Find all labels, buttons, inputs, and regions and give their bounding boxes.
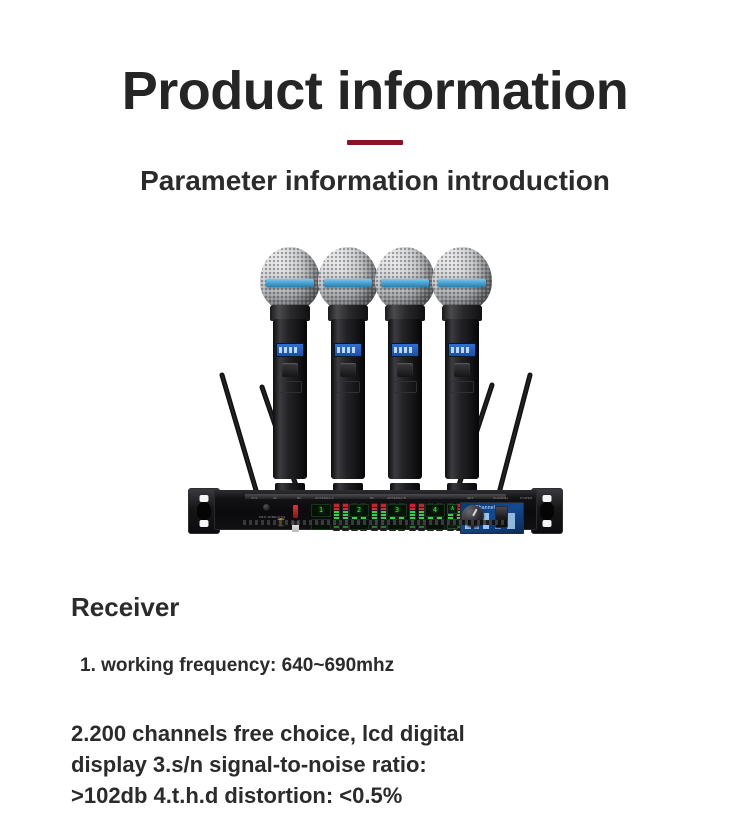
mic-accent-band — [381, 279, 429, 287]
mic-label-plate — [278, 381, 302, 393]
spec-paragraph-line-1: 2.200 channels free choice, lcd digital — [71, 718, 691, 749]
channel-number: 4 — [425, 504, 445, 517]
channel-number: 2 — [349, 504, 369, 517]
microphone-2 — [326, 247, 370, 497]
panel-label-channel: CHANNEL — [493, 496, 509, 500]
product-information-page: Product information Parameter informatio… — [0, 0, 750, 833]
mic-power-switch[interactable] — [340, 363, 356, 377]
spec-paragraph: 2.200 channels free choice, lcd digital … — [71, 718, 691, 812]
panel-label-antenna-b: ANTENNA B — [387, 496, 406, 500]
panel-label-vol: VOL — [251, 496, 258, 500]
spec-paragraph-line-2: display 3.s/n signal-to-noise ratio: — [71, 749, 691, 780]
page-title: Product information — [0, 62, 750, 121]
mic-label-plate — [393, 381, 417, 393]
mic-display — [448, 343, 476, 357]
microphone-3 — [383, 247, 427, 497]
power-indicator-led — [293, 505, 298, 518]
panel-label-antenna-a: ANTENNA A — [315, 496, 334, 500]
spec-working-frequency: 1. working frequency: 640~690mhz — [80, 655, 394, 677]
mic-display — [276, 343, 304, 357]
mic-accent-band — [266, 279, 314, 287]
mic-label-plate — [336, 381, 360, 393]
mic-power-switch[interactable] — [454, 363, 470, 377]
mic-power-switch[interactable] — [282, 363, 298, 377]
microphone-4 — [440, 247, 484, 497]
mic-accent-band — [438, 279, 486, 287]
receiver-front-panel: VOL AF RF ANTENNA A RF ANTENNA B SET CHA… — [214, 490, 537, 530]
panel-small-knob[interactable] — [263, 504, 270, 511]
mic-display — [391, 343, 419, 357]
mic-power-switch[interactable] — [397, 363, 413, 377]
receiver-section-heading: Receiver — [71, 592, 179, 623]
panel-label-set: SET — [467, 496, 473, 500]
panel-label-rf-a: RF — [297, 496, 301, 500]
microphone-1 — [268, 247, 312, 497]
mic-accent-band — [324, 279, 372, 287]
indicator-led-a: A — [447, 504, 458, 514]
page-subtitle: Parameter information introduction — [0, 164, 750, 198]
panel-label-af: AF — [273, 496, 277, 500]
product-photo: VOL AF RF ANTENNA A RF ANTENNA B SET CHA… — [0, 235, 750, 565]
mic-label-plate — [450, 381, 474, 393]
panel-bottom-vents — [243, 520, 508, 525]
panel-label-power: POWER — [520, 496, 532, 500]
channel-number: 1 — [311, 504, 331, 517]
receiver-unit: VOL AF RF ANTENNA A RF ANTENNA B SET CHA… — [188, 488, 563, 536]
channel-number: 3 — [387, 504, 407, 517]
mic-display — [334, 343, 362, 357]
spec-paragraph-line-3: >102db 4.t.h.d distortion: <0.5% — [71, 780, 691, 811]
title-divider — [347, 140, 403, 145]
panel-label-rf-b: RF — [370, 496, 374, 500]
